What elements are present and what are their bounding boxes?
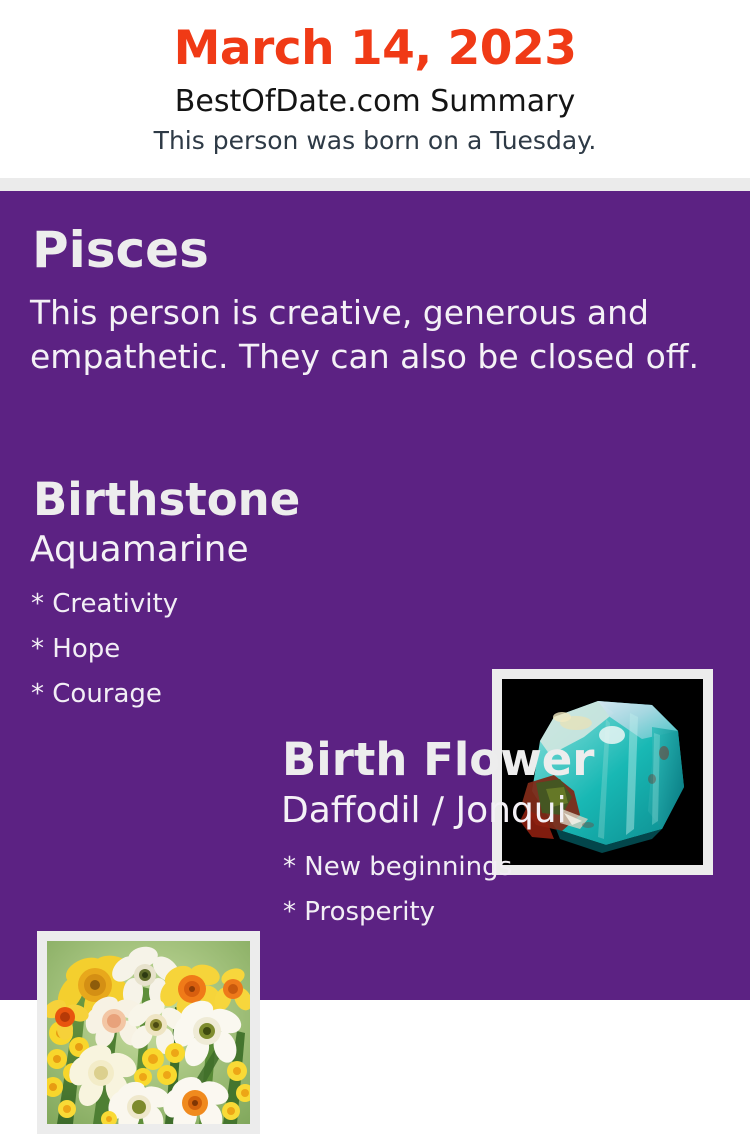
list-item: * Hope bbox=[31, 627, 451, 672]
page-title-date: March 14, 2023 bbox=[0, 22, 750, 76]
page-header: March 14, 2023 BestOfDate.com Summary Th… bbox=[0, 0, 750, 178]
birthstone-heading: Birthstone bbox=[33, 474, 300, 526]
birthflower-heading: Birth Flower bbox=[282, 734, 595, 786]
zodiac-description: This person is creative, generous and em… bbox=[30, 291, 710, 379]
daffodil-flowers-graphic bbox=[47, 941, 250, 1124]
site-name-subtitle: BestOfDate.com Summary bbox=[0, 84, 750, 120]
birthstone-name: Aquamarine bbox=[30, 528, 249, 572]
list-item: * Prosperity bbox=[283, 890, 703, 935]
list-item: * Courage bbox=[31, 672, 451, 717]
birthflower-image-frame bbox=[37, 931, 260, 1134]
zodiac-sign-title: Pisces bbox=[32, 222, 209, 278]
birthflower-trait-list: * New beginnings * Prosperity bbox=[283, 845, 703, 935]
birthflower-name: Daffodil / Jonqui bbox=[281, 789, 567, 833]
daffodil-flowers-icon bbox=[47, 941, 250, 1124]
content-panel: Pisces This person is creative, generous… bbox=[0, 191, 750, 1000]
day-of-week-note: This person was born on a Tuesday. bbox=[0, 126, 750, 156]
list-item: * New beginnings bbox=[283, 845, 703, 890]
summary-page: March 14, 2023 BestOfDate.com Summary Th… bbox=[0, 0, 750, 1000]
header-divider bbox=[0, 178, 750, 191]
list-item: * Creativity bbox=[31, 582, 451, 627]
birthstone-trait-list: * Creativity * Hope * Courage bbox=[31, 582, 451, 717]
birthflower-image bbox=[47, 941, 250, 1124]
